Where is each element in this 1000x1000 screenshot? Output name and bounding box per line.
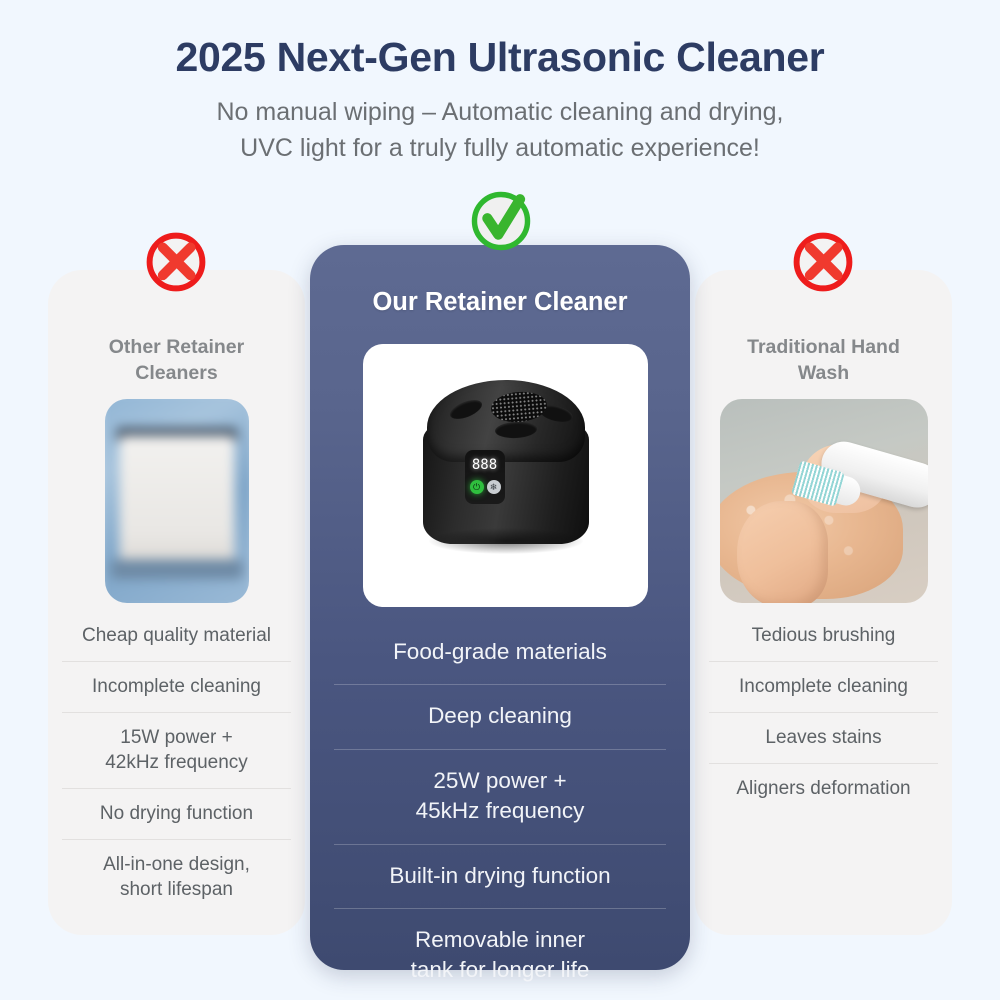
lid-mesh-grille: [489, 390, 547, 425]
feature-list-hand-wash: Tedious brushing Incomplete cleaning Lea…: [709, 611, 938, 814]
black-ultrasonic-cleaner-image: 888 ⏻ ❄: [417, 374, 595, 560]
list-item: Removable inner tank for longer life: [334, 908, 666, 1000]
red-x-icon: [143, 229, 209, 295]
cleaner-body-shape: [120, 436, 234, 566]
list-item: Incomplete cleaning: [62, 661, 291, 712]
lid-slot-center: [494, 421, 537, 439]
list-item: 25W power + 45kHz frequency: [334, 749, 666, 844]
product-control-panel: 888 ⏻ ❄: [465, 450, 505, 504]
column-heading-other-cleaners: Other Retainer Cleaners: [48, 334, 305, 387]
list-item: Tedious brushing: [709, 611, 938, 661]
red-x-icon: [790, 229, 856, 295]
thumb-shape: [737, 501, 829, 603]
list-item: All-in-one design, short lifespan: [62, 839, 291, 915]
list-item: Aligners deformation: [709, 763, 938, 814]
photo-other-cleaner: [105, 399, 249, 603]
column-heading-our-cleaner: Our Retainer Cleaner: [310, 288, 690, 317]
photo-hand-wash: [720, 399, 928, 603]
product-shadow: [429, 528, 583, 554]
list-item: No drying function: [62, 788, 291, 839]
lid-slot-left: [447, 396, 484, 423]
list-item: Incomplete cleaning: [709, 661, 938, 712]
list-item: Cheap quality material: [62, 611, 291, 661]
list-item: Built-in drying function: [334, 844, 666, 908]
power-icon[interactable]: ⏻: [470, 480, 484, 494]
list-item: 15W power + 42kHz frequency: [62, 712, 291, 788]
column-heading-hand-wash: Traditional Hand Wash: [695, 334, 952, 387]
list-item: Leaves stains: [709, 712, 938, 763]
list-item: Deep cleaning: [334, 684, 666, 748]
cleaner-base-shape: [110, 559, 243, 579]
hand-toothbrush-image: [720, 399, 928, 603]
fan-icon[interactable]: ❄: [487, 480, 501, 494]
green-check-icon: [467, 187, 535, 255]
feature-list-our-cleaner: Food-grade materials Deep cleaning 25W p…: [334, 621, 666, 1000]
feature-list-other-cleaners: Cheap quality material Incomplete cleani…: [62, 611, 291, 916]
seven-segment-display: 888: [471, 458, 499, 473]
product-lid: [427, 380, 585, 462]
blurred-white-cleaner-image: [105, 399, 249, 603]
photo-our-cleaner: 888 ⏻ ❄: [363, 344, 648, 607]
list-item: Food-grade materials: [334, 621, 666, 684]
comparison-columns: Other Retainer Cleaners Our Retainer Cle…: [0, 0, 1000, 1000]
